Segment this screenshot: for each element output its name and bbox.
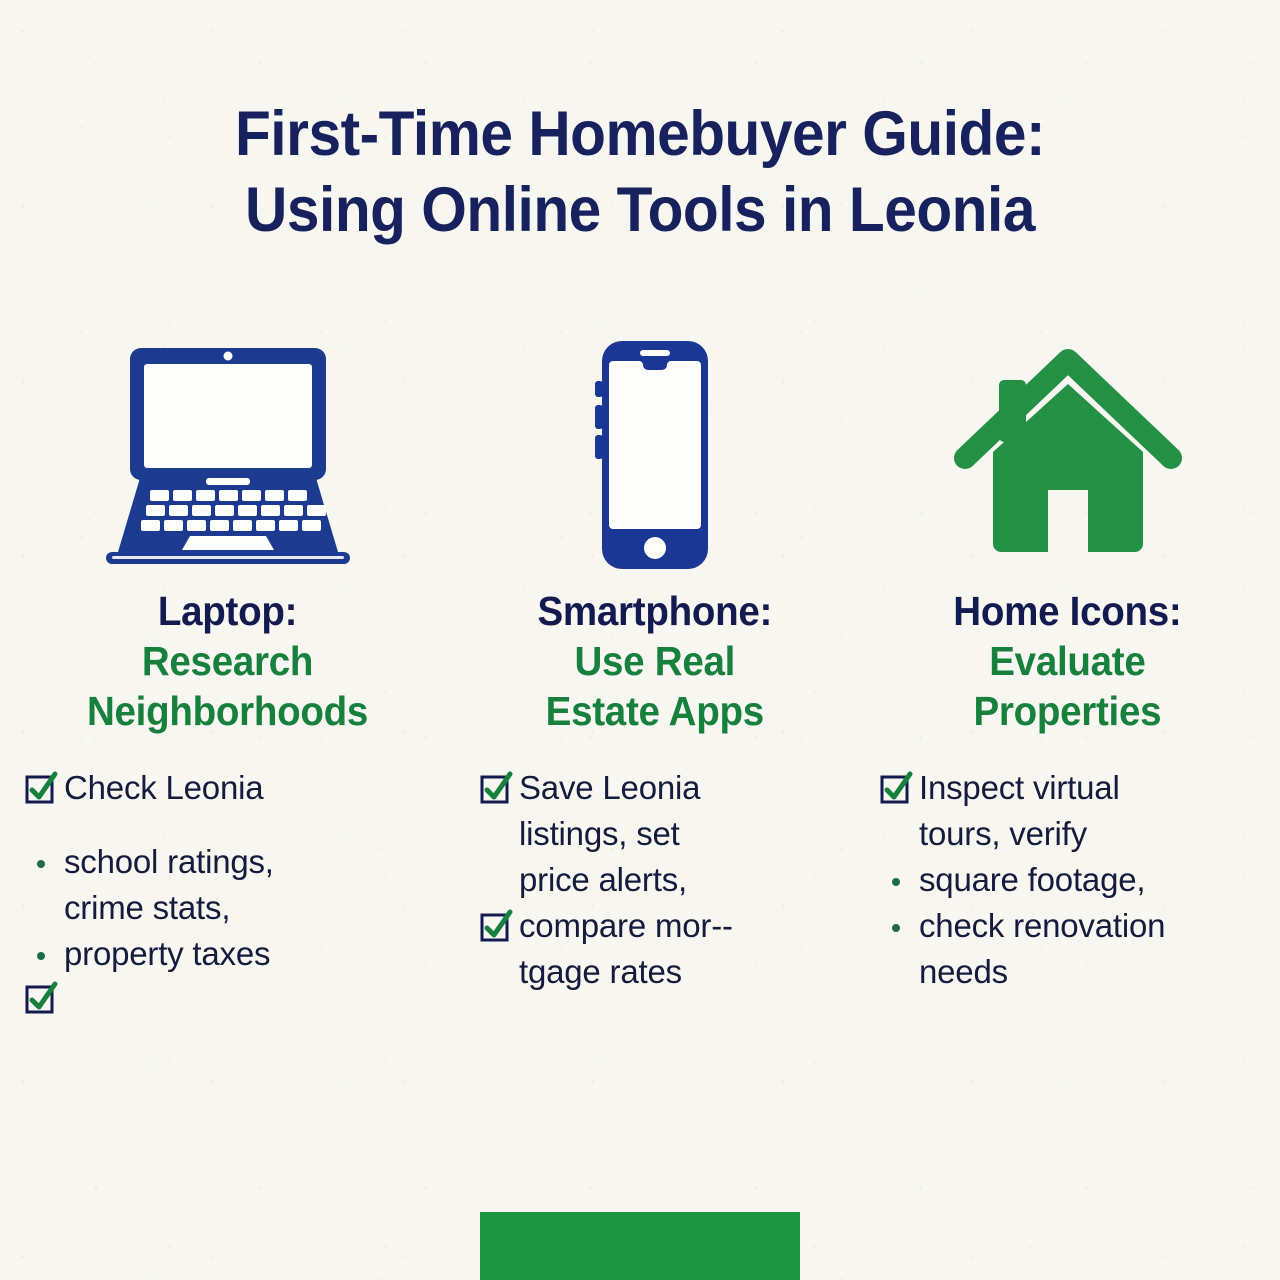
list-item-continuation: crime stats, (18, 886, 437, 930)
list-item[interactable]: school ratings, (18, 840, 437, 884)
marker-slot (18, 932, 64, 960)
list-item[interactable]: property taxes (18, 932, 437, 976)
title-line-1: First-Time Homebuyer Guide: (45, 96, 1235, 172)
checkbox-checked-icon[interactable] (24, 981, 58, 1015)
marker-slot (473, 766, 519, 805)
list-item-text: needs (919, 950, 1008, 994)
checkbox-checked-icon[interactable] (879, 771, 913, 805)
heading-action-line-1: Research (87, 636, 368, 686)
laptop-icon (78, 340, 378, 570)
heading-device-label: Home Icons: (953, 586, 1181, 636)
list-item-text: crime stats, (64, 886, 230, 930)
smartphone-icon-wrapper (580, 330, 730, 580)
list-item[interactable]: compare mor-- (473, 904, 837, 948)
page-title: First-Time Homebuyer Guide: Using Online… (0, 96, 1280, 248)
bullet-dot-icon (892, 878, 900, 886)
bullet-dot-icon (892, 924, 900, 932)
list-item-continuation: price alerts, (473, 858, 837, 902)
marker-slot (18, 840, 64, 868)
checkbox-checked-icon[interactable] (479, 771, 513, 805)
heading-action-line-2: Estate Apps (538, 686, 773, 736)
list-item-text: Check Leonia (64, 766, 263, 810)
marker-slot (873, 858, 919, 886)
columns-container: Laptop: Research Neighborhoods Check Leo… (0, 330, 1280, 1017)
list-item-text: Inspect virtual (919, 766, 1120, 810)
list-item-continuation: listings, set (473, 812, 837, 856)
list-item-text: price alerts, (519, 858, 687, 902)
marker-slot (873, 904, 919, 932)
heading-action-line-2: Properties (953, 686, 1181, 736)
house-icon (953, 348, 1183, 563)
list-item[interactable]: Inspect virtual (873, 766, 1262, 810)
list-item-continuation: needs (873, 950, 1262, 994)
column-smartphone: Smartphone: Use Real Estate Apps Save Le… (455, 330, 855, 996)
marker-slot (18, 766, 64, 805)
bullet-dot-icon (37, 952, 45, 960)
list-item-text: compare mor-- (519, 904, 733, 948)
heading-action-line-2: Neighborhoods (87, 686, 368, 736)
heading-action-line-1: Evaluate (953, 636, 1181, 686)
checklist-smartphone: Save Leonia listings, set price alerts, (455, 766, 855, 996)
heading-home-icons: Home Icons: Evaluate Properties (946, 586, 1189, 736)
heading-device-label: Smartphone: (538, 586, 773, 636)
green-accent-bar (480, 1212, 800, 1280)
list-item[interactable]: Save Leonia (473, 766, 837, 810)
infographic-poster: First-Time Homebuyer Guide: Using Online… (0, 0, 1280, 1280)
checklist-home-icons: Inspect virtual tours, verify square foo… (855, 766, 1280, 996)
list-item-text: listings, set (519, 812, 680, 856)
column-home-icons: Home Icons: Evaluate Properties Inspect … (855, 330, 1280, 996)
list-item-empty[interactable] (18, 976, 437, 1015)
column-laptop: Laptop: Research Neighborhoods Check Leo… (0, 330, 455, 1017)
list-item[interactable]: check renovation (873, 904, 1262, 948)
house-icon-wrapper (953, 330, 1183, 580)
marker-slot (473, 904, 519, 943)
list-item-text: school ratings, (64, 840, 274, 884)
checklist-laptop: Check Leonia school ratings, crime stats… (0, 766, 455, 1017)
list-item-continuation: tgage rates (473, 950, 837, 994)
list-item-text: tours, verify (919, 812, 1087, 856)
checkbox-checked-icon[interactable] (24, 771, 58, 805)
checkbox-checked-icon[interactable] (479, 909, 513, 943)
marker-slot (18, 976, 64, 1015)
list-item[interactable]: square footage, (873, 858, 1262, 902)
list-item-text: tgage rates (519, 950, 682, 994)
list-item-text: square footage, (919, 858, 1145, 902)
marker-slot (873, 766, 919, 805)
list-item-continuation: tours, verify (873, 812, 1262, 856)
bullet-dot-icon (37, 860, 45, 868)
list-item[interactable]: Check Leonia (18, 766, 437, 810)
title-line-2: Using Online Tools in Leonia (45, 172, 1235, 248)
smartphone-icon (580, 335, 730, 575)
list-item-text: check renovation (919, 904, 1165, 948)
heading-device-label: Laptop: (87, 586, 368, 636)
heading-laptop: Laptop: Research Neighborhoods (78, 586, 377, 736)
heading-action-line-1: Use Real (538, 636, 773, 686)
heading-smartphone: Smartphone: Use Real Estate Apps (530, 586, 780, 736)
list-item-text: property taxes (64, 932, 270, 976)
laptop-icon-wrapper (78, 330, 378, 580)
list-item-text: Save Leonia (519, 766, 700, 810)
